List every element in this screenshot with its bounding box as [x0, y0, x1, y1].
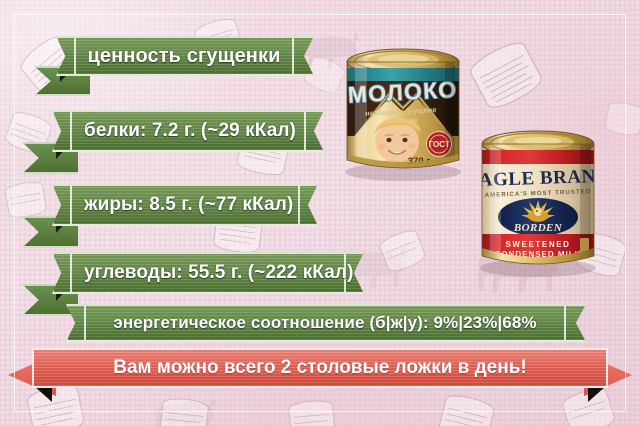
- ribbon-energy-ratio: энергетическое соотношение (б|ж|у): 9%|2…: [66, 304, 586, 348]
- ribbon-energy-ratio-body: энергетическое соотношение (б|ж|у): 9%|2…: [84, 304, 566, 342]
- eagle-brand-condensed-milk-can: EAGLE BRAND AMERICA'S MOST TRUSTED: [472, 120, 604, 280]
- ribbon-fat-body: жиры: 8.5 г. (~77 кКал): [70, 184, 300, 226]
- svg-text:SWEETENED: SWEETENED: [505, 240, 570, 249]
- ribbon-carbs-text: углеводы: 55.5 г. (~222 кКал): [84, 262, 354, 284]
- ribbon-footer-right-fold-shadow: [588, 386, 606, 402]
- ribbon-footer-advice: Вам можно всего 2 столовые ложки в день!: [8, 348, 632, 404]
- ribbon-protein: белки: 7.2 г. (~29 кКал): [22, 110, 324, 176]
- ribbon-energy-ratio-text: энергетическое соотношение (б|ж|у): 9%|2…: [113, 313, 536, 333]
- ribbon-protein-body: белки: 7.2 г. (~29 кКал): [70, 110, 306, 152]
- poster-canvas: МОЛОКО незбиране згущене з цукром: [0, 0, 640, 426]
- ribbon-protein-text: белки: 7.2 г. (~29 кКал): [84, 120, 296, 142]
- svg-text:BORDEN: BORDEN: [513, 222, 563, 234]
- ribbon-carbs-body: углеводы: 55.5 г. (~222 кКал): [70, 252, 346, 294]
- ribbon-footer-text: Вам можно всего 2 столовые ложки в день!: [113, 357, 526, 379]
- ribbon-footer-left-fold-shadow: [34, 386, 52, 402]
- ribbon-fat: жиры: 8.5 г. (~77 кКал): [22, 184, 318, 250]
- ribbon-fat-text: жиры: 8.5 г. (~77 кКал): [84, 194, 293, 216]
- soviet-condensed-milk-can: МОЛОКО незбиране згущене з цукром: [333, 36, 473, 184]
- ribbon-footer-body: Вам можно всего 2 столовые ложки в день!: [32, 348, 608, 388]
- ribbon-title: ценность сгущенки: [34, 36, 314, 98]
- ribbon-title-text: ценность сгущенки: [88, 45, 281, 68]
- ribbon-title-body: ценность сгущенки: [74, 36, 294, 76]
